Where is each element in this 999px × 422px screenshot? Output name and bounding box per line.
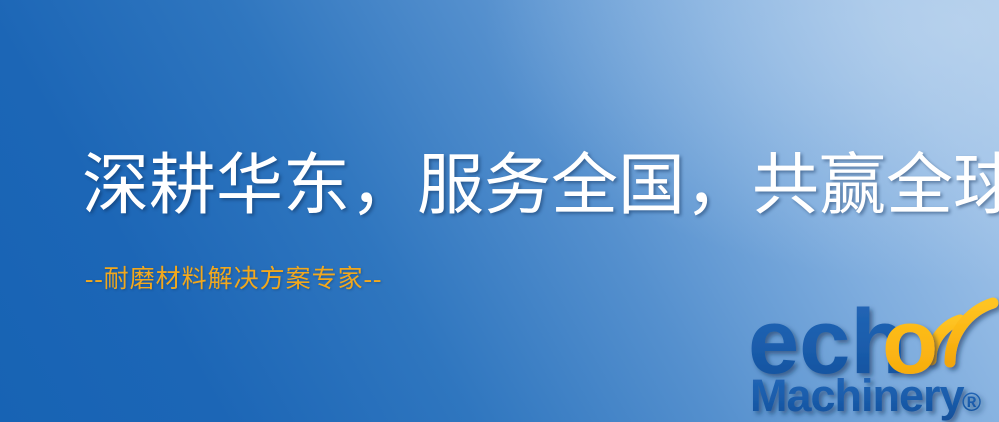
banner-subtitle: --耐磨材料解决方案专家-- <box>85 266 382 294</box>
echo-wave-arcs <box>931 303 993 362</box>
promo-banner: 深耕华东，服务全国，共赢全球 --耐磨材料解决方案专家-- <box>0 0 999 422</box>
logo-tagline: Machinery <box>750 370 965 421</box>
registered-trademark-icon: ® <box>962 387 981 417</box>
logo-graphic: ech o Machinery ® <box>748 296 999 422</box>
banner-headline: 深耕华东，服务全国，共赢全球 <box>82 152 999 220</box>
echo-machinery-logo[interactable]: ech o Machinery ® <box>748 296 999 422</box>
